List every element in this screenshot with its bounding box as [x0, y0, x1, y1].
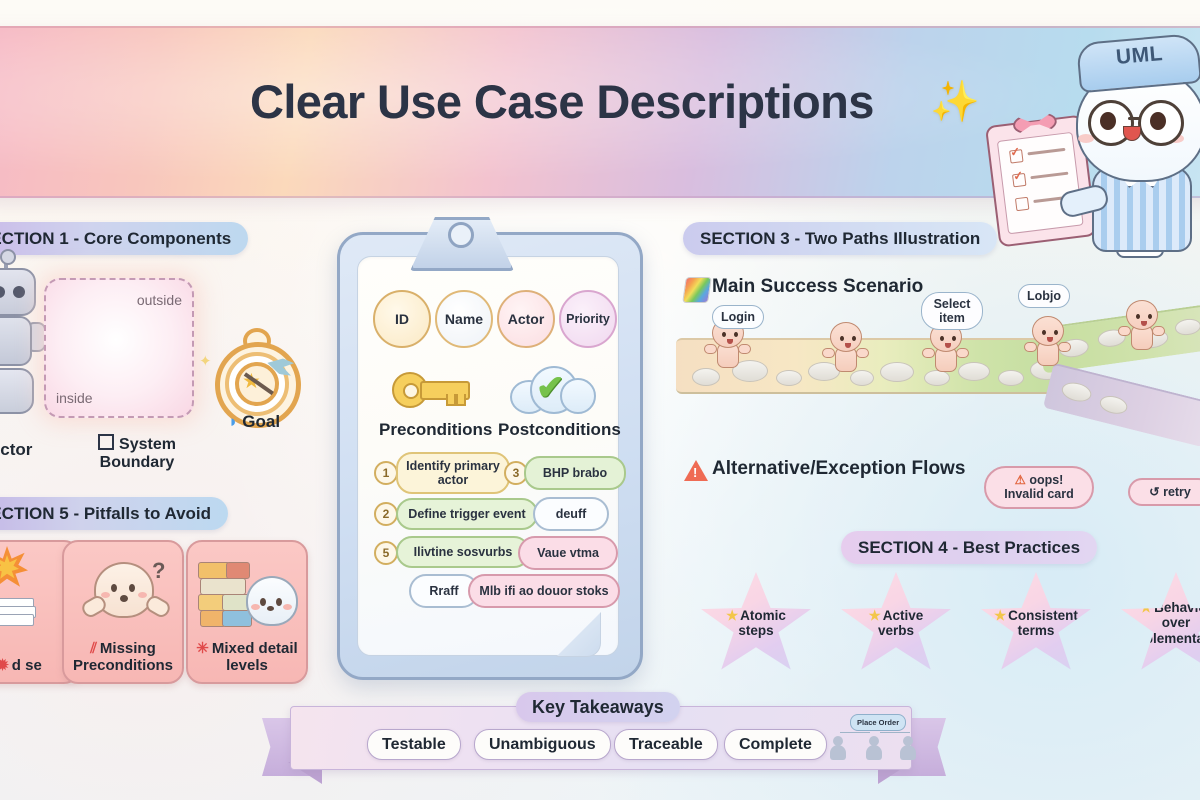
- preconditions-label: Preconditions: [379, 420, 492, 440]
- question-mark-icon: ?: [152, 558, 165, 584]
- clipboard-clip-hole: [448, 222, 474, 248]
- pitfall-caption-text: Missing Preconditions: [73, 640, 173, 674]
- field-chip-name: Name: [435, 290, 493, 348]
- takeaway-pill: Unambiguous: [474, 729, 611, 760]
- takeaway-pill: Traceable: [614, 729, 718, 760]
- step-bubble: Mlb ifi ao douor stoks: [468, 574, 620, 608]
- main-success-scenario-label: Main Success Scenario: [712, 276, 923, 298]
- path-character: [1030, 316, 1064, 368]
- speech-bubble-select-item: Select item: [921, 292, 983, 330]
- goal-label: ◗Goal: [228, 412, 280, 432]
- section-3-badge: SECTION 3 - Two Paths Illustration: [683, 222, 997, 255]
- collision-icon: ✹: [0, 657, 9, 674]
- blocks-icon: [196, 562, 248, 628]
- system-boundary-box: outside inside: [44, 278, 194, 418]
- star-icon: ★: [994, 608, 1006, 623]
- pitfall-caption: ✳Mixed detail levels: [194, 641, 300, 674]
- field-chip-priority: Priority: [559, 290, 617, 348]
- uml-mascot: UML: [1020, 38, 1200, 253]
- speech-bubble-lobjo: Lobjo: [1018, 284, 1070, 308]
- best-practice-star: ★Consistent terms: [980, 572, 1092, 678]
- speech-bubble-login: Login: [712, 305, 764, 329]
- path-character: [1124, 300, 1158, 352]
- star-icon: ★: [1140, 600, 1152, 615]
- step-bubble: Define trigger event: [396, 498, 538, 530]
- chip-label: ID: [395, 311, 409, 327]
- pitfall-caption: ⫽Missing Preconditions: [70, 641, 176, 674]
- sparkle-icon: ✳: [196, 640, 209, 657]
- mini-usecase-diagram: Place Order: [828, 714, 920, 762]
- sparkles-icon: ✨: [930, 78, 980, 125]
- best-practice-text: Behavior over implementation: [1129, 600, 1200, 646]
- best-practice-label: ★Atomic steps: [709, 608, 803, 639]
- cloud-check-icon: ✔: [510, 364, 594, 412]
- chip-label: Actor: [508, 311, 545, 327]
- best-practice-label: ★Active verbs: [849, 608, 943, 639]
- mini-actor-icon: [900, 736, 916, 760]
- pitfall-caption-text: d se: [12, 657, 42, 674]
- check-icon: ✔: [536, 368, 565, 408]
- exception-bubble-invalid-card: ⚠ oops! Invalid card: [984, 466, 1094, 509]
- mini-usecase-label: Place Order: [850, 714, 906, 731]
- warning-icon: ⚠: [1015, 473, 1026, 487]
- star-icon: ★: [869, 608, 881, 623]
- goal-label-text: Goal: [242, 412, 280, 431]
- step-bubble: deuff: [533, 497, 609, 531]
- section-4-badge: SECTION 4 - Best Practices: [841, 531, 1097, 564]
- system-boundary-caption: System Boundary: [72, 434, 202, 473]
- retry-icon: ↺: [1149, 485, 1159, 499]
- alternative-flows-label: Alternative/Exception Flows: [712, 458, 965, 480]
- step-number: 2: [374, 502, 398, 526]
- best-practice-star: ★Active verbs: [840, 572, 952, 678]
- sweat-icon: ⫽: [90, 640, 97, 657]
- pitfall-caption-text: Mixed detail levels: [212, 640, 298, 674]
- step-bubble: BHP brabo: [524, 456, 626, 490]
- chip-label: Priority: [566, 312, 610, 326]
- step-number: 5: [374, 541, 398, 565]
- square-icon: [98, 434, 114, 450]
- takeaway-pill: Complete: [724, 729, 827, 760]
- warning-icon: [684, 460, 708, 481]
- inside-label: inside: [56, 390, 93, 406]
- takeaway-pill: Testable: [367, 729, 461, 760]
- rainbow-icon: [682, 277, 712, 303]
- exception-branch-path: [1043, 363, 1200, 448]
- outside-label: outside: [137, 292, 182, 308]
- step-number: 1: [374, 461, 398, 485]
- infographic-canvas: Clear Use Case Descriptions ✨ UML SECTIO…: [0, 0, 1200, 800]
- path-character: [828, 322, 862, 374]
- pitfall-card: ✳Mixed detail levels: [186, 540, 308, 684]
- best-practice-label: ★Behavior over implementation: [1129, 600, 1200, 646]
- step-bubble: Identify primary actor: [396, 452, 510, 494]
- chip-label: Name: [445, 311, 483, 327]
- actor-robot-icon: [0, 268, 40, 428]
- step-bubble: Vaue vtma: [518, 536, 618, 570]
- blob-icon: [246, 576, 298, 626]
- field-chip-actor: Actor: [497, 290, 555, 348]
- field-chip-id: ID: [373, 290, 431, 348]
- exception-bubble-text: retry: [1163, 485, 1191, 499]
- glasses-bridge-icon: [1128, 117, 1140, 120]
- best-practice-text: Active verbs: [878, 608, 923, 638]
- best-practice-text: Consistent terms: [1008, 608, 1078, 638]
- mini-actor-icon: [866, 736, 882, 760]
- page-title: Clear Use Case Descriptions: [250, 74, 950, 129]
- actor-label: Actor: [0, 440, 32, 460]
- mascot-eye-right: [1138, 100, 1184, 146]
- goal-target-icon: ✦ ✦ ★: [215, 342, 295, 422]
- section-1-badge: SECTION 1 - Core Components: [0, 222, 248, 255]
- mini-actor-icon: [830, 736, 846, 760]
- postconditions-label: Postconditions: [498, 420, 621, 440]
- best-practice-star: ★Behavior over implementation: [1120, 572, 1200, 678]
- best-practice-label: ★Consistent terms: [989, 608, 1083, 639]
- best-practice-text: Atomic steps: [738, 608, 786, 638]
- best-practice-star: ★Atomic steps: [700, 572, 812, 678]
- star-icon: ★: [726, 608, 738, 623]
- mascot-cap-label: UML: [1115, 42, 1164, 70]
- key-takeaways-title: Key Takeaways: [516, 692, 680, 722]
- pitfall-card: ? ⫽Missing Preconditions: [62, 540, 184, 684]
- step-bubble: Ilivtine sosvurbs: [396, 536, 530, 568]
- exception-bubble-retry: ↺ retry: [1128, 478, 1200, 506]
- target-pin-icon: ◗: [228, 412, 238, 431]
- mascot-clipboard-paper: [997, 132, 1084, 235]
- section-5-badge: SECTION 5 - Pitfalls to Avoid: [0, 497, 228, 530]
- key-icon: [392, 368, 468, 408]
